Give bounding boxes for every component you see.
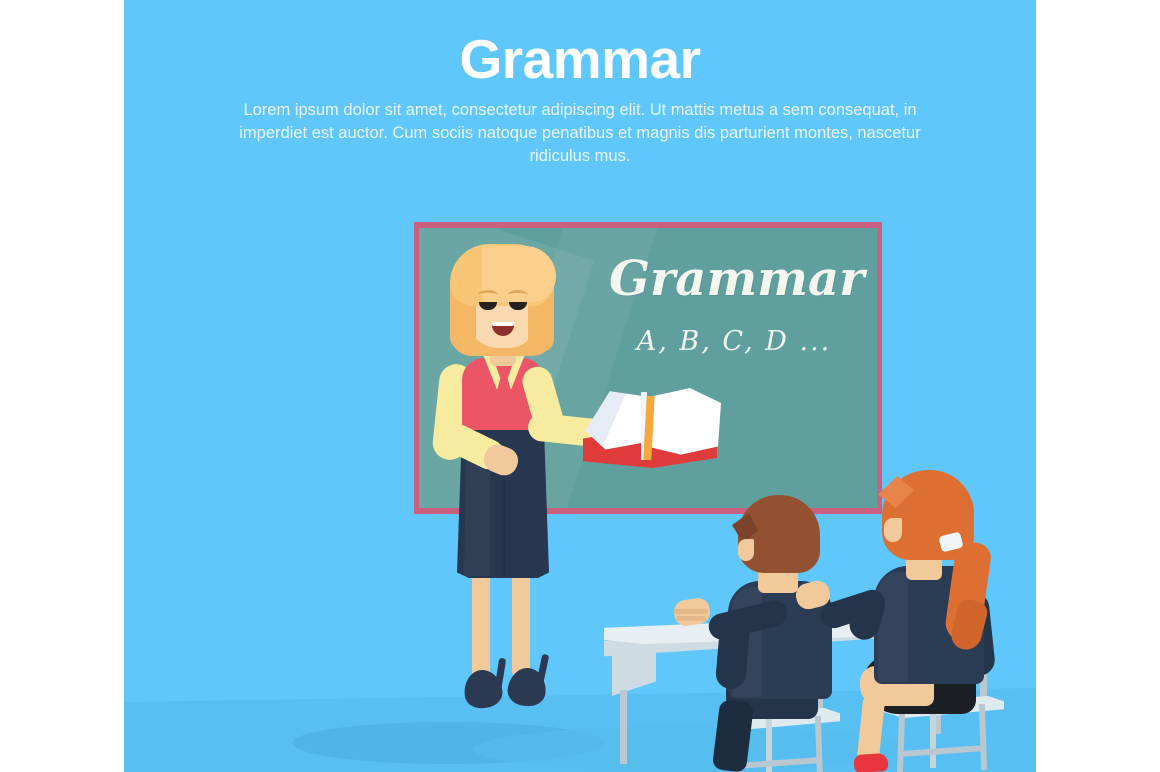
girl-sweater-highlight (878, 572, 908, 682)
desk-apron (612, 644, 656, 696)
page-subtitle: Lorem ipsum dolor sit amet, consectetur … (212, 99, 948, 168)
desk-leg-left (620, 690, 627, 764)
blue-content-panel: Grammar Lorem ipsum dolor sit amet, cons… (124, 0, 1036, 772)
teacher-eyebrow-left (478, 290, 498, 300)
student-girl (854, 470, 1034, 772)
open-book (579, 382, 721, 478)
page-title: Grammar (124, 26, 1036, 92)
book-page-right (647, 388, 721, 456)
boy-shin (712, 699, 754, 772)
left-margin (0, 0, 124, 772)
right-margin (1036, 0, 1160, 772)
boy-finger-upper (674, 609, 708, 614)
boy-finger-lower (676, 616, 706, 621)
girl-shoe (853, 753, 888, 772)
teacher-teeth (492, 322, 514, 326)
teacher-eyebrow-right (508, 290, 528, 300)
illustration-poster: Grammar Lorem ipsum dolor sit amet, cons… (0, 0, 1160, 772)
girl-ear (884, 518, 902, 542)
boy-ear (738, 539, 754, 561)
